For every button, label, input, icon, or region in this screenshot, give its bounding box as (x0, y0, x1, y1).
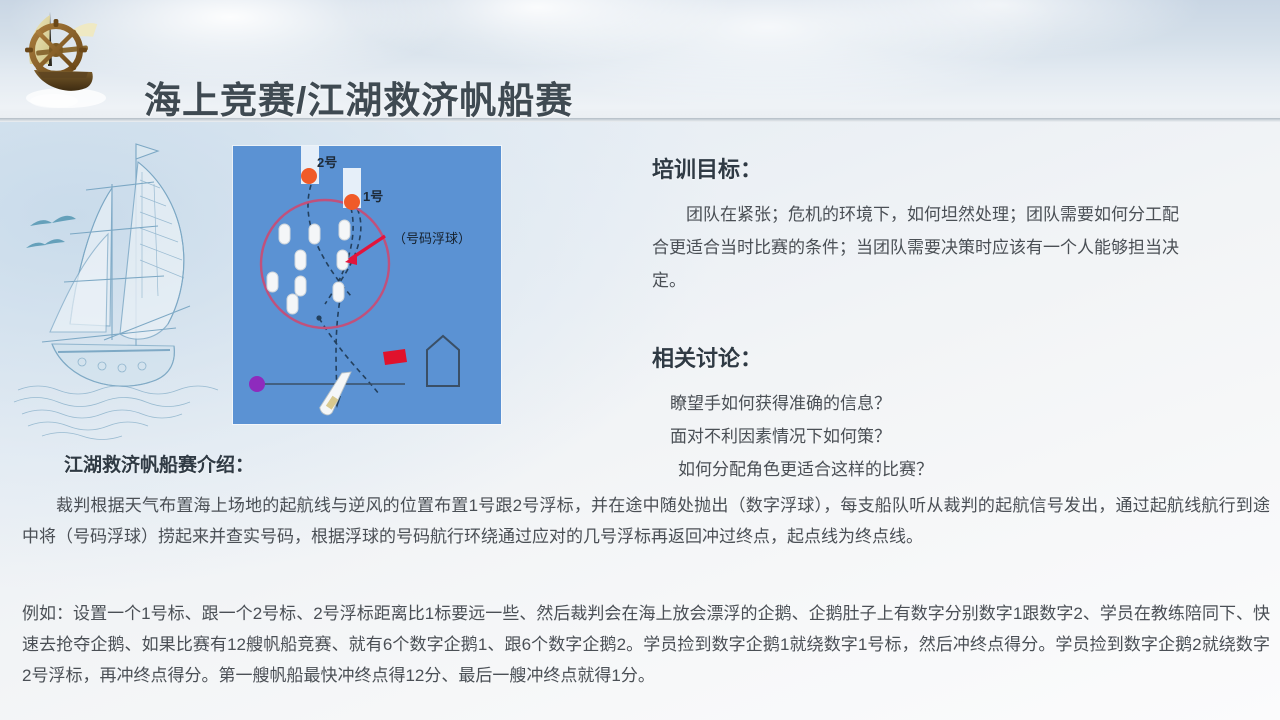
diagram-label-buoy-1: 1号 (363, 186, 383, 205)
discussion-item: 如何分配角色更适合这样的比赛？ (652, 453, 1272, 486)
slide-header: 海上竞赛/江湖救济帆船赛 (0, 0, 1280, 122)
right-column: 培训目标： 团队在紧张；危机的环境下，如何坦然处理；团队需要如何分工配合更适合当… (652, 152, 1272, 486)
discussion-item: 面对不利因素情况下如何策？ (652, 420, 1272, 453)
intro-paragraph-1: 裁判根据天气布置海上场地的起航线与逆风的位置布置1号跟2号浮标，并在途中随处抛出… (22, 490, 1270, 552)
diagram-label-buoy-2: 2号 (317, 152, 337, 171)
sailing-course-diagram: 2号 1号 （号码浮球） (233, 146, 501, 424)
page-title: 海上竞赛/江湖救济帆船赛 (144, 70, 573, 122)
decorative-sailboat-illustration (8, 128, 248, 458)
sailing-ship-wheel-icon (8, 2, 126, 120)
discussion-heading: 相关讨论： (652, 341, 1272, 373)
discussion-item: 瞭望手如何获得准确的信息？ (652, 387, 1272, 420)
objective-heading: 培训目标： (652, 152, 1272, 184)
objective-text: 团队在紧张；危机的环境下，如何坦然处理；团队需要如何分工配合更适合当时比赛的条件… (652, 198, 1192, 297)
slide-root: 海上竞赛/江湖救济帆船赛 (0, 0, 1280, 720)
intro-heading: 江湖救济帆船赛介绍： (64, 450, 254, 477)
intro-paragraph-2: 例如：设置一个1号标、跟一个2号标、2号浮标距离比1标要远一些、然后裁判会在海上… (22, 598, 1270, 691)
diagram-annotation-number-float: （号码浮球） (393, 228, 471, 247)
